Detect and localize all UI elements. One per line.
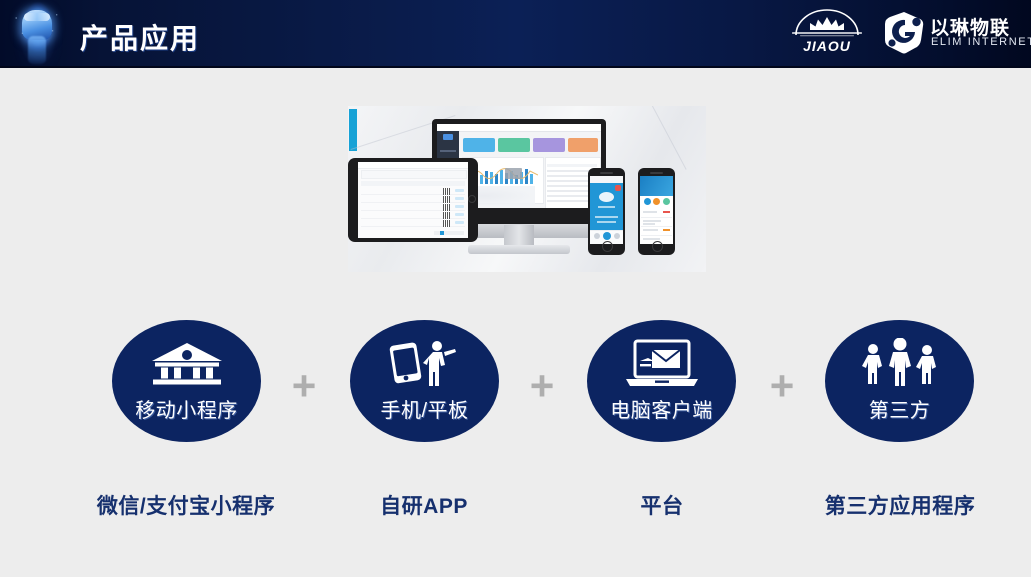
laptop-mail-icon: [587, 338, 736, 390]
g-hexagon-icon: [882, 10, 926, 56]
page-title: 产品应用: [80, 17, 200, 57]
tablet-table-screen: [358, 162, 468, 238]
three-people-icon: [825, 338, 974, 390]
jiaou-wordmark: JIAOU: [786, 38, 868, 54]
phone-app-screen: [590, 176, 623, 244]
jiaou-logo: JIAOU: [786, 8, 868, 58]
channel-circle-third-party[interactable]: 第三方: [825, 320, 974, 442]
channel-circle-mini-program[interactable]: 移动小程序: [112, 320, 261, 442]
phone-list-screen: [640, 176, 673, 244]
circle-label: 手机/平板: [350, 394, 499, 423]
bank-building-icon: [112, 338, 261, 390]
mockup-accent-bar: [349, 109, 357, 151]
phone-app-device: [588, 168, 625, 255]
header-bottom-edge: [0, 66, 1031, 68]
fist-graphic: [8, 0, 70, 68]
caption-platform: 平台: [532, 490, 792, 520]
multi-device-product-screenshot: [348, 106, 706, 272]
elim-en-name: ELIM INTERNET: [931, 36, 1031, 48]
caption-third-party-app: 第三方应用程序: [770, 490, 1030, 520]
caption-mini-program: 微信/支付宝小程序: [56, 490, 316, 520]
phone-list-device: [638, 168, 675, 255]
tablet-device: [348, 158, 478, 242]
phone-person-icon: [350, 338, 499, 390]
plus-separator: +: [764, 368, 800, 404]
channel-circle-phone-tablet[interactable]: 手机/平板: [350, 320, 499, 442]
caption-self-developed-app: 自研APP: [294, 490, 554, 520]
circle-label: 移动小程序: [112, 394, 261, 423]
elim-logo: 以琳物联 ELIM INTERNET: [882, 10, 1022, 58]
plus-separator: +: [524, 368, 560, 404]
plus-separator: +: [286, 368, 322, 404]
sunrise-arch-icon: [786, 8, 868, 40]
circle-label: 电脑客户端: [587, 394, 736, 423]
circle-label: 第三方: [825, 394, 974, 423]
page-header: 产品应用 JIAOU 以琳物联 ELIM INTERNET: [0, 0, 1031, 68]
channel-circle-desktop-client[interactable]: 电脑客户端: [587, 320, 736, 442]
